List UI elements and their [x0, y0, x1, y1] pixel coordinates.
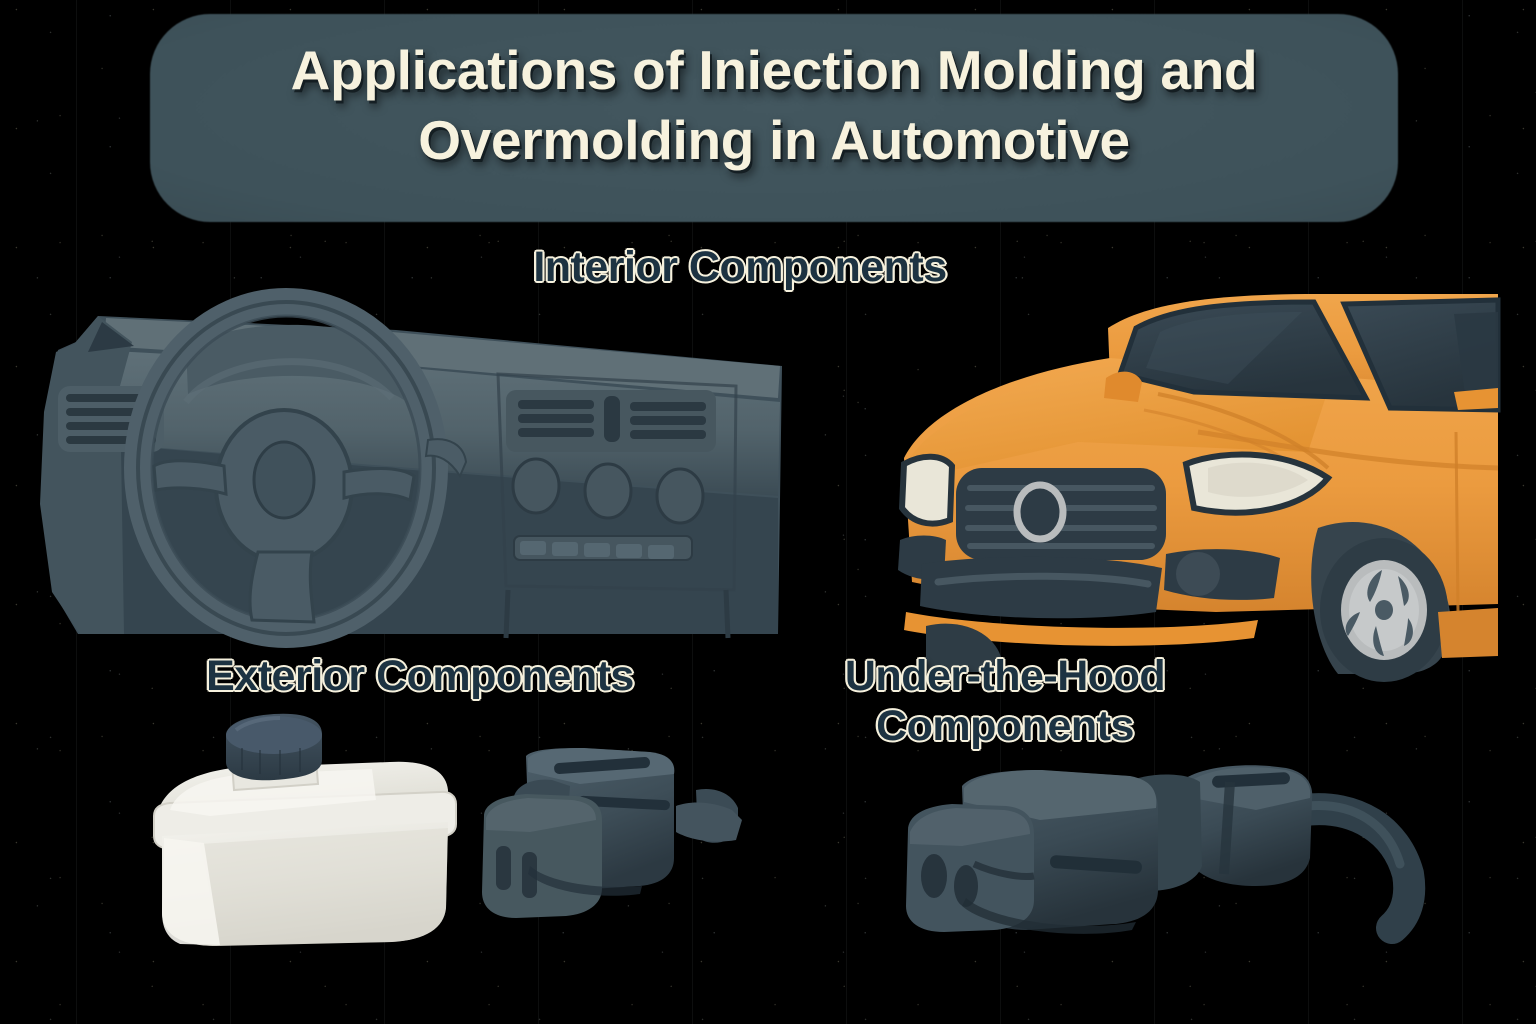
fog-light: [1176, 552, 1220, 596]
section-label-exterior: Exterior Components: [95, 652, 745, 702]
side-mirror: [1104, 372, 1142, 402]
lower-bumper-intake: [920, 557, 1162, 618]
electrical-connector-left-illustration: [470, 748, 770, 944]
connector-with-cable-illustration: [900, 758, 1420, 944]
connector-slot-1: [496, 846, 511, 890]
center-air-vents: [506, 390, 716, 452]
headlight-left: [902, 457, 952, 524]
section-label-under-the-hood: Under-the-Hood Components: [760, 652, 1250, 752]
airbag-emblem: [254, 442, 314, 518]
climate-control-knobs: [513, 459, 703, 523]
brand-emblem: [1017, 485, 1063, 539]
connector-cable: [1304, 809, 1409, 928]
door-trim-panel: [40, 316, 132, 634]
infographic-canvas: Applications of Iniection Molding and Ov…: [0, 0, 1536, 1024]
spoke-left: [154, 461, 226, 494]
reservoir-tank-illustration: [140, 712, 460, 952]
orange-car-illustration: [898, 282, 1508, 672]
center-console-button-strip: [514, 536, 692, 560]
section-label-interior: Interior Components: [380, 243, 1100, 293]
door-seam: [1456, 432, 1458, 612]
page-title: Applications of Iniection Molding and Ov…: [150, 36, 1398, 176]
rocker-panel: [1438, 608, 1498, 658]
spoke-bottom: [250, 552, 314, 622]
dashboard-illustration: [36, 290, 792, 642]
front-grille: [956, 468, 1166, 560]
connector-pin-hole-1: [921, 854, 947, 898]
tank-cap-top: [226, 716, 322, 754]
strain-relief-rib: [1224, 782, 1230, 874]
tank-lower-shade: [200, 828, 448, 945]
